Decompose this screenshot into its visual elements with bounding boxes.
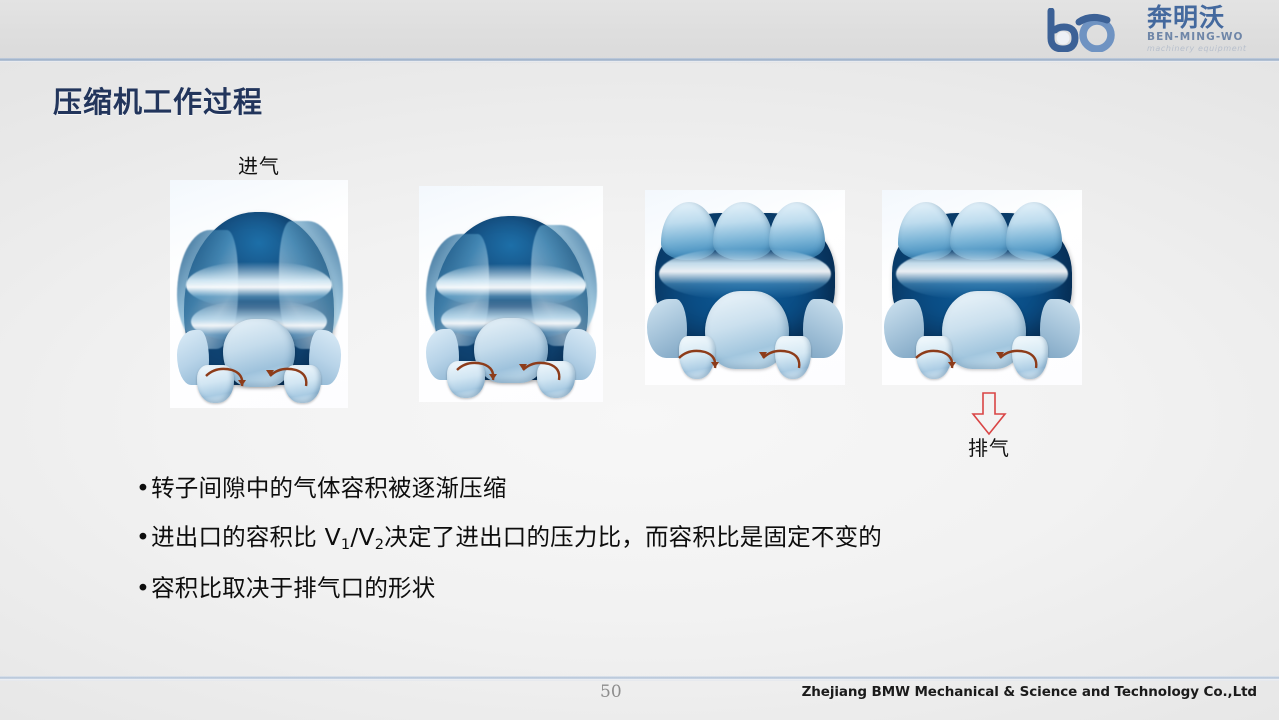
slide-root: 奔明沃 BEN-MING-WO machinery equipment 压缩机工… xyxy=(0,0,1279,720)
bullet-text-mid: /V xyxy=(350,523,374,551)
page-number: 50 xyxy=(600,682,622,702)
bullet-text-post: 决定了进出口的压力比，而容积比是固定不变的 xyxy=(384,523,882,551)
subscript-1: 1 xyxy=(341,535,350,552)
bullet-text: 容积比取决于排气口的形状 xyxy=(151,577,435,601)
figure-stage-3 xyxy=(645,190,845,385)
screw-rotor-artwork-2 xyxy=(419,186,603,402)
screw-rotor-artwork-4 xyxy=(882,190,1082,385)
bullet-text: 进出口的容积比 V1/V2决定了进出口的压力比，而容积比是固定不变的 xyxy=(151,526,882,552)
figure-stage-1 xyxy=(170,180,348,408)
figure-stage-4-image xyxy=(882,190,1082,385)
bullet-text: 转子间隙中的气体容积被逐渐压缩 xyxy=(151,477,507,501)
screw-rotor-artwork-3 xyxy=(645,190,845,385)
bullet-marker: • xyxy=(136,477,150,501)
footer-company-name: Zhejiang BMW Mechanical & Science and Te… xyxy=(802,684,1257,700)
bullet-item-2: • 进出口的容积比 V1/V2决定了进出口的压力比，而容积比是固定不变的 xyxy=(136,526,1086,552)
figure-stage-4 xyxy=(882,190,1082,385)
figure-stage-2-image xyxy=(419,186,603,402)
exhaust-label: 排气 xyxy=(968,432,1010,461)
intake-label: 进气 xyxy=(238,150,280,179)
figure-row: 进气 xyxy=(0,0,1279,480)
figure-stage-1-image xyxy=(170,180,348,408)
exhaust-arrow-icon xyxy=(968,392,1010,436)
bullet-text-pre: 进出口的容积比 V xyxy=(151,523,341,551)
figure-stage-2 xyxy=(419,186,603,402)
screw-rotor-artwork-1 xyxy=(170,180,348,408)
bullet-item-3: • 容积比取决于排气口的形状 xyxy=(136,577,1086,601)
footer-divider-line-soft xyxy=(0,679,1279,681)
figure-stage-3-image xyxy=(645,190,845,385)
bullet-list: • 转子间隙中的气体容积被逐渐压缩 • 进出口的容积比 V1/V2决定了进出口的… xyxy=(136,477,1086,625)
subscript-2: 2 xyxy=(375,535,384,552)
bullet-marker: • xyxy=(136,526,150,550)
bullet-item-1: • 转子间隙中的气体容积被逐渐压缩 xyxy=(136,477,1086,501)
bullet-marker: • xyxy=(136,577,150,601)
